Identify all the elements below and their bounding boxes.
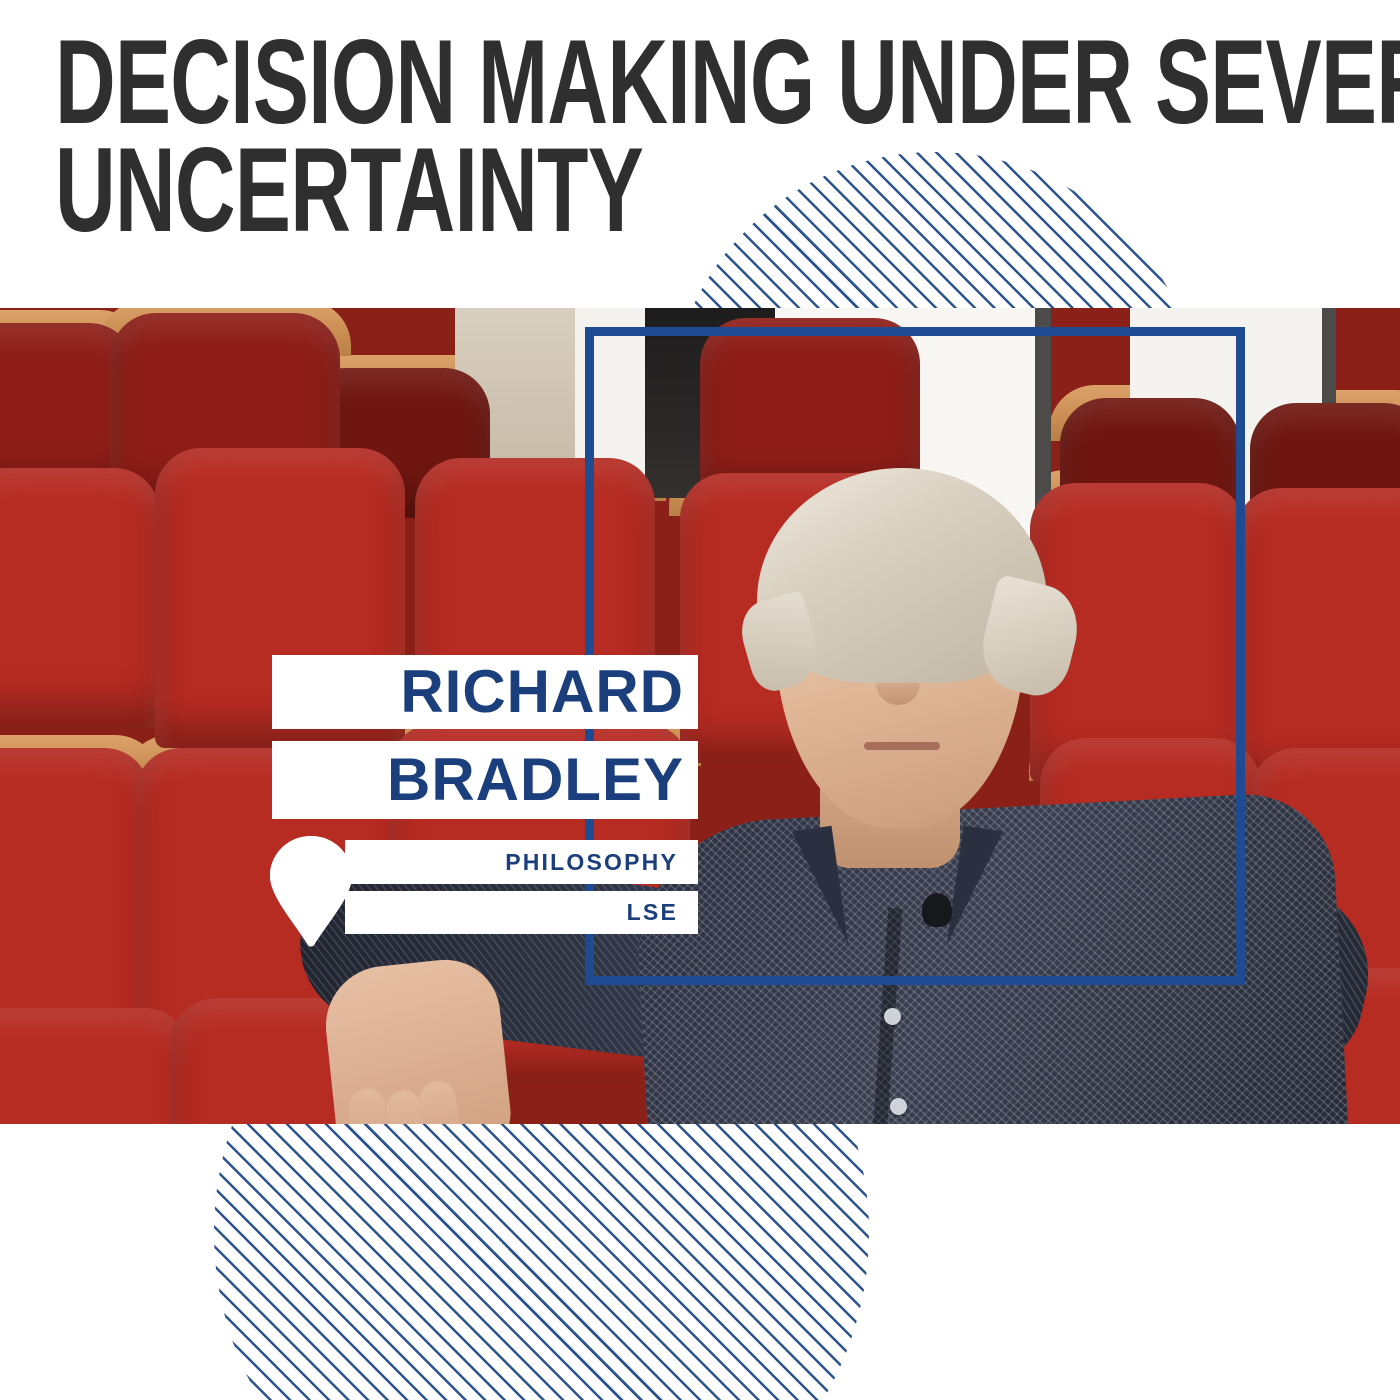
- lapel-microphone: [922, 893, 952, 927]
- organisation-label: LSE: [627, 901, 678, 924]
- speaker-figure: [0, 308, 1400, 1124]
- last-name-label: BRADLEY: [387, 750, 684, 810]
- microphone-pin-icon: [263, 833, 359, 949]
- first-name-bar: RICHARD: [272, 655, 698, 729]
- title-line-2: UNCERTAINTY: [55, 136, 930, 244]
- department-bar: PHILOSOPHY: [345, 840, 698, 884]
- first-name-label: RICHARD: [400, 662, 684, 722]
- shirt-button: [890, 1098, 907, 1115]
- hand: [320, 954, 515, 1124]
- speaker-photo: [0, 308, 1400, 1124]
- organisation-bar: LSE: [345, 891, 698, 934]
- mouth: [864, 742, 940, 750]
- shirt-button: [884, 1008, 901, 1025]
- title-line-1: DECISION MAKING UNDER SEVERE: [55, 28, 930, 136]
- photo-inner: [0, 308, 1400, 1124]
- podcast-cover-artwork: DECISION MAKING UNDER SEVERE UNCERTAINTY: [0, 0, 1400, 1400]
- department-label: PHILOSOPHY: [505, 851, 678, 874]
- finger: [417, 1079, 470, 1124]
- page-title: DECISION MAKING UNDER SEVERE UNCERTAINTY: [55, 28, 1305, 244]
- finger: [349, 1088, 387, 1124]
- last-name-bar: BRADLEY: [272, 741, 698, 819]
